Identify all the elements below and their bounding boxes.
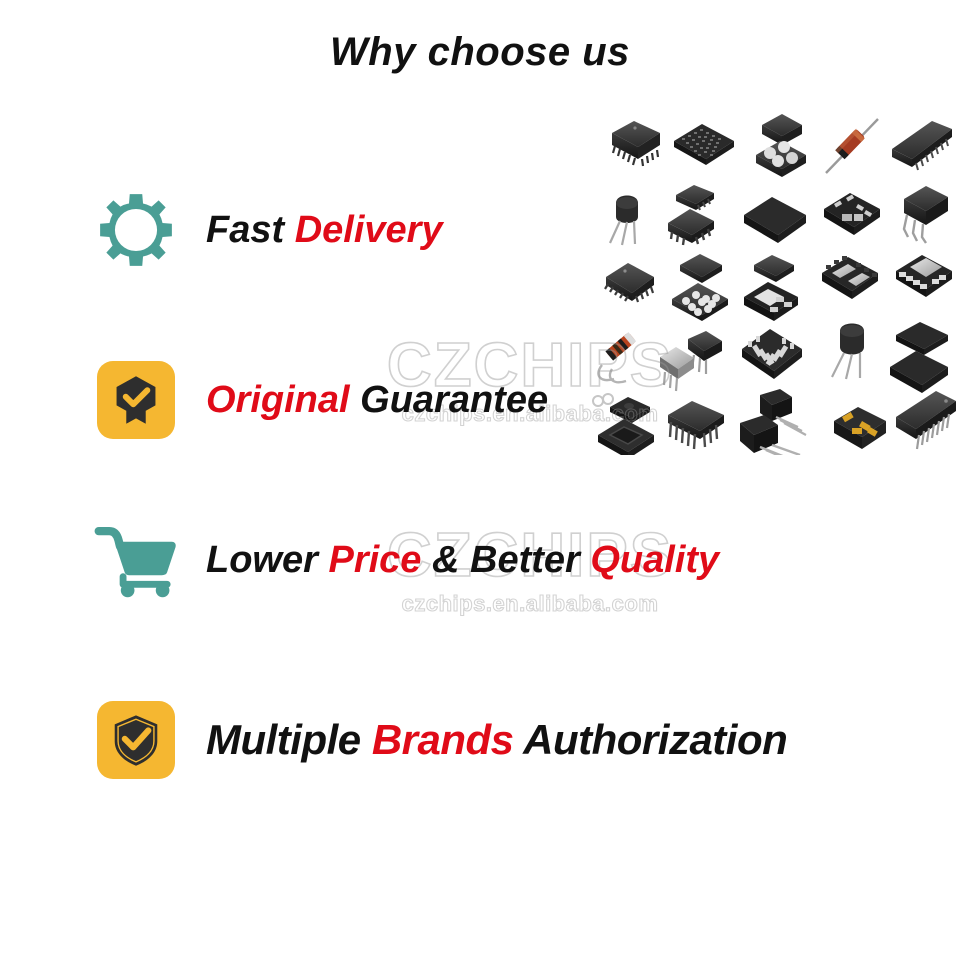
dip14-package	[668, 401, 724, 449]
chip-dip	[892, 121, 952, 170]
chip-bga	[674, 124, 734, 165]
feature-row-original-guarantee: Original Guarantee	[88, 352, 548, 448]
feature-label: Original Guarantee	[206, 381, 548, 419]
label-part: Guarantee	[360, 379, 548, 421]
shield-check-icon	[88, 692, 184, 788]
page-title: Why choose us	[0, 30, 960, 75]
label-part: Multiple	[206, 716, 372, 763]
qfn-leadframe	[742, 329, 802, 379]
bga-ball-package	[672, 254, 728, 321]
label-part: Lower	[206, 539, 328, 581]
label-part-accent: Brands	[372, 716, 514, 763]
badge-check-icon	[88, 352, 184, 448]
gear-icon	[88, 182, 184, 278]
label-part-accent: Quality	[590, 539, 719, 581]
qfn-flat	[744, 197, 806, 243]
label-part-accent: Original	[206, 379, 360, 421]
to92-transistor	[610, 196, 638, 246]
axial-diode	[826, 119, 878, 173]
dfn-open-package	[744, 255, 798, 321]
tqfp-package	[605, 263, 654, 302]
to92-transistor-2	[832, 324, 864, 380]
dpak-pair	[660, 331, 722, 391]
chip-plcc	[612, 121, 660, 166]
chip-smd-stack	[756, 114, 806, 177]
soic-pair	[668, 185, 714, 245]
label-part-accent: Price	[328, 539, 421, 581]
label-part-accent: Delivery	[295, 209, 443, 251]
sip-module	[896, 391, 956, 449]
shopping-cart-icon	[88, 512, 184, 608]
feature-label: Lower Price & Better Quality	[206, 541, 719, 579]
feature-row-fast-delivery: Fast Delivery	[88, 182, 443, 278]
feature-label: Fast Delivery	[206, 211, 443, 249]
label-part: Authorization	[514, 716, 788, 763]
chip-collage	[588, 105, 960, 455]
dip6-optocoupler	[904, 186, 948, 243]
promo-banner: Why choose us	[0, 0, 960, 960]
qfn-pad-package	[822, 256, 878, 299]
dfn-package	[824, 193, 880, 235]
qfp-stack-2	[593, 394, 654, 455]
oscillator-package	[834, 407, 886, 449]
to220-pair	[740, 389, 806, 455]
axial-diode-bent	[598, 332, 636, 382]
qfp-stack	[890, 322, 948, 393]
feature-row-multiple-brands: Multiple Brands Authorization	[88, 692, 787, 788]
feature-label: Multiple Brands Authorization	[206, 719, 787, 761]
feature-row-lower-price: Lower Price & Better Quality	[88, 512, 719, 608]
dfn8-package	[896, 255, 952, 297]
label-part: & Better	[421, 539, 590, 581]
label-part: Fast	[206, 209, 295, 251]
